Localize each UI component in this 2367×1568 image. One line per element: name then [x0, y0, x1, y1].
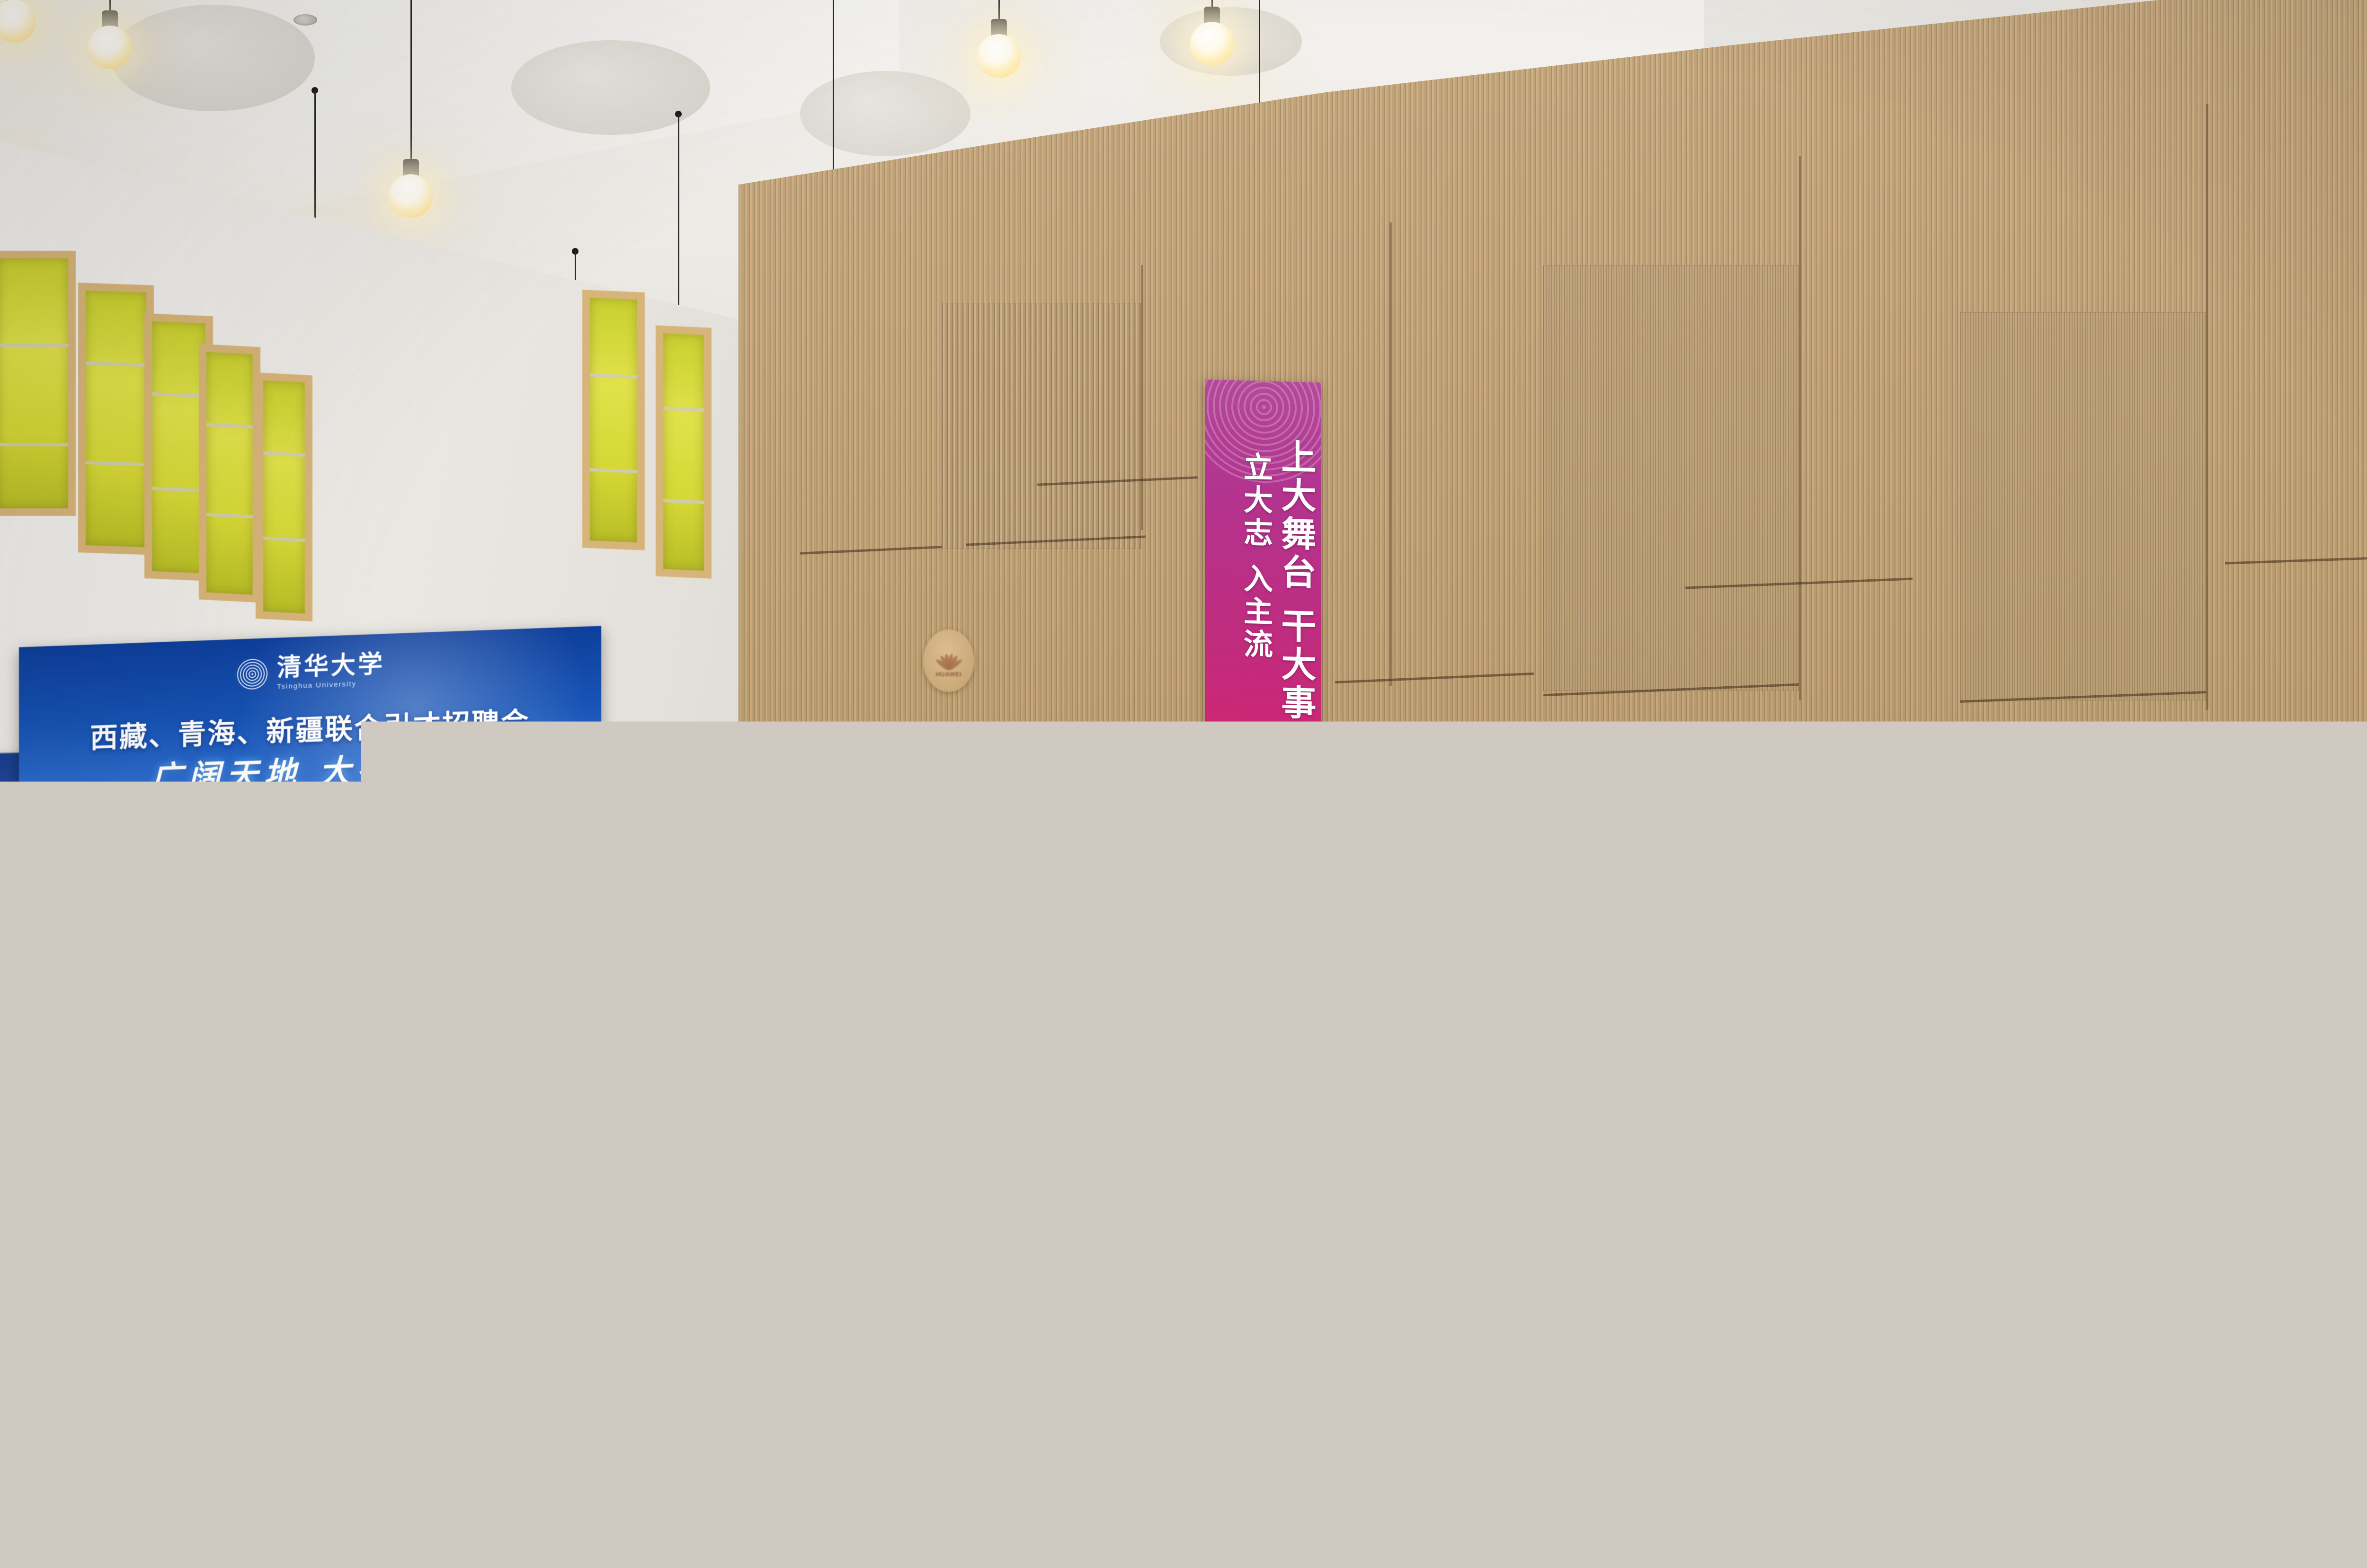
poster-org: 青海盐湖工业股份有限公司: [2277, 878, 2340, 886]
tsinghua-seal-icon: [697, 796, 716, 815]
pink-banner-line-right: 上大舞台 干大事业: [1277, 438, 1314, 762]
lectern-top: [0, 945, 102, 958]
poster-table: [2260, 988, 2367, 1002]
qr-code-icon[interactable]: [1389, 1025, 1401, 1037]
wall-panel-seam: [1141, 265, 1143, 530]
western-provinces-highlight: [684, 886, 733, 936]
paper-handout: [844, 1320, 922, 1382]
poster-headline: 招聘: [1517, 921, 1559, 952]
backpack: [26, 1231, 149, 1373]
window: [0, 251, 76, 516]
poster-hero-image: 青海农信 QHRC: [2031, 876, 2149, 1032]
hoodie: [2021, 1387, 2315, 1568]
poster-headline: 招聘简章: [2260, 914, 2367, 935]
university-name-en: Tsinghua University: [716, 813, 766, 819]
qr-code-icon[interactable]: [1460, 907, 1472, 920]
poster-hero-image: 青海省人民医院 梦想 起航: [1385, 895, 1477, 1021]
poster-headline-en: JOIN US >>>>>: [1664, 884, 1722, 893]
wall-panel-seam: [1799, 156, 1801, 700]
poster-hero-image: 青海盐湖工业股份有限公司: [2256, 874, 2367, 912]
recruitment-fair-photo: HUAWEI 上大舞台 干大事业 立大志 入主流 1911 — 2021 到祖国…: [0, 0, 2367, 1568]
tablet-device: [1204, 1311, 1295, 1377]
hoodie-print-text: Kentucky: [1120, 1267, 1214, 1291]
qr-code-icon[interactable]: [2260, 878, 2273, 891]
qr-code-icon[interactable]: [1735, 886, 1747, 899]
window: [582, 290, 645, 550]
poster-org: 青海省人民医院: [1449, 898, 1472, 903]
poster-body: 招聘简章 单位简介: [2256, 912, 2367, 1005]
huawei-logo-medallion: HUAWEI: [923, 629, 974, 692]
window: [656, 325, 712, 578]
qr-code-icon[interactable]: [2132, 879, 2145, 891]
tsinghua-seal-icon: [29, 975, 73, 1021]
wall-panel: [1543, 265, 1799, 691]
poster-org-cn: 青海农信: [2044, 878, 2063, 886]
poster-hero-image: 青海银行 BANK OF QINGHAI JOIN US >>>>> 诚聘英才 …: [1643, 881, 1751, 940]
pink-vertical-banner: 上大舞台 干大事业 立大志 入主流: [1205, 380, 1321, 1001]
poster-org-en: QHRC: [2071, 877, 2091, 885]
poster-headline: 招聘简章: [2072, 1039, 2121, 1056]
coffee-cup: [876, 1143, 904, 1166]
tsinghua-seal-icon: [235, 656, 269, 692]
wall-panel-seam: [2206, 104, 2208, 710]
pink-banner-line-left: 立大志 入主流: [1240, 452, 1271, 662]
water-bottle: [585, 1505, 618, 1567]
anniversary-zero-icon: [1260, 922, 1286, 952]
anniversary-bars-icon: [1239, 923, 1259, 950]
main-stage-screen: 清华大学 Tsinghua University 西藏、青海、新疆联合引才招聘会…: [19, 626, 601, 988]
water-bottle: [590, 1500, 614, 1513]
university-name-cn: 清华大学: [277, 652, 385, 680]
poster-section-heading: 单位简介: [1647, 946, 1747, 954]
wall-panel: [942, 303, 1141, 549]
window: [199, 344, 260, 603]
tsinghua-logo: 清华大学 Tsinghua University: [235, 652, 385, 692]
huawei-petals-icon: [934, 644, 963, 670]
ceiling-vent: [294, 14, 317, 26]
wall-panel: [1960, 312, 2206, 700]
poster-org: 西宁大学: [1905, 965, 1949, 980]
poster-section-heading: 单位简介: [2260, 938, 2283, 945]
china-map-graphic: [678, 876, 768, 949]
poster-headline: 梦想 起航: [1390, 908, 1441, 925]
window: [78, 283, 154, 555]
third-banner-circle-icon: [0, 837, 11, 859]
window: [256, 372, 312, 621]
qr-code-icon[interactable]: [1939, 904, 1951, 917]
huawei-wordmark: HUAWEI: [936, 671, 962, 678]
wall-panel-seam: [1389, 222, 1392, 686]
poster-org: 西部矿业集团: [1524, 904, 1552, 909]
anniversary-110-mark: [1234, 917, 1292, 956]
poster-section-heading: 招聘岗位: [1647, 976, 1747, 984]
ceiling-acoustic-disk: [511, 40, 710, 135]
ceiling-acoustic-disk: [111, 5, 315, 111]
poster-subhead-en: WE WANT YOU: [1709, 904, 1729, 906]
ceiling-acoustic-disk: [800, 71, 970, 156]
